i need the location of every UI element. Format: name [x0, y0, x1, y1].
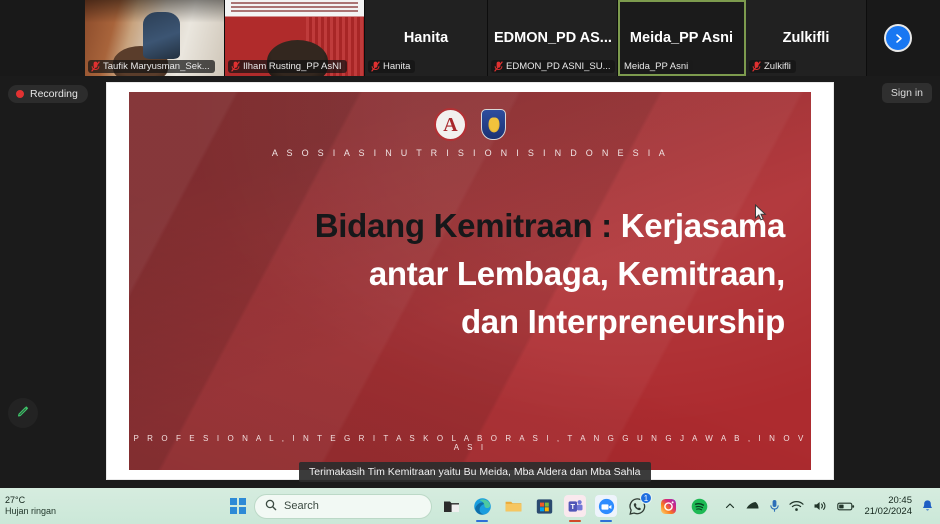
- participant-name-badge: Zulkifli: [749, 60, 796, 73]
- mic-muted-icon: [494, 61, 503, 72]
- mouse-cursor-icon: [754, 204, 767, 227]
- svg-text:T: T: [570, 502, 575, 511]
- chevron-up-icon[interactable]: [724, 500, 736, 512]
- participant-tile-hanita[interactable]: Hanita Hanita: [365, 0, 488, 76]
- windows-taskbar: 27°C Hujan ringan Search: [0, 488, 940, 524]
- annotate-button[interactable]: [8, 398, 38, 428]
- wifi-icon[interactable]: [789, 500, 804, 512]
- spotify-icon[interactable]: [688, 495, 710, 517]
- slide-title: Bidang Kemitraan : Kerjasama antar Lemba…: [157, 202, 785, 346]
- participant-name-text: Ilham Rusting_PP AsNI: [243, 61, 342, 72]
- next-participants-button[interactable]: [867, 0, 929, 76]
- speaker-icon[interactable]: [813, 500, 828, 512]
- search-icon: [265, 499, 277, 514]
- participant-name-badge: Meida_PP Asni: [621, 60, 693, 73]
- taskbar-center-group: Search: [230, 494, 710, 519]
- weather-description: Hujan ringan: [5, 506, 110, 517]
- whatsapp-badge: 1: [640, 492, 652, 504]
- search-placeholder-text: Search: [284, 500, 319, 512]
- pencil-icon: [16, 403, 31, 423]
- participant-name-badge: Ilham Rusting_PP AsNI: [228, 60, 347, 73]
- government-shield-logo: [481, 109, 506, 140]
- microphone-icon[interactable]: [769, 499, 780, 513]
- participant-name-text: EDMON_PD ASNI_SU...: [506, 61, 611, 72]
- participant-name-badge: EDMON_PD ASNI_SU...: [491, 60, 615, 73]
- slide-footer-values: P R O F E S I O N A L , I N T E G R I T …: [129, 434, 811, 452]
- pen-ink-icon[interactable]: [745, 500, 760, 512]
- windows-start-icon[interactable]: [230, 498, 246, 514]
- presentation-stage: Recording Sign in A A S O S I A S I N U …: [0, 76, 940, 488]
- slide-logo-row: A: [129, 108, 811, 141]
- taskbar-app-icons: T 1: [440, 495, 710, 517]
- participant-name-badge: Taufik Maryusman_Sek...: [88, 60, 215, 73]
- recording-label: Recording: [30, 88, 78, 100]
- chevron-right-icon: [884, 24, 912, 52]
- filmstrip-left-pad: [0, 0, 85, 76]
- participant-tile-ilham[interactable]: Ilham Rusting_PP AsNI: [225, 0, 365, 76]
- participant-name-text: Zulkifli: [764, 61, 791, 72]
- slide-title-line3: dan Interpreneurship: [461, 303, 785, 340]
- microsoft-teams-icon[interactable]: T: [564, 495, 586, 517]
- microsoft-store-icon[interactable]: [533, 495, 555, 517]
- slide-title-line1-dark: Bidang Kemitraan :: [315, 207, 612, 244]
- live-caption: Terimakasih Tim Kemitraan yaitu Bu Meida…: [299, 462, 651, 482]
- microsoft-edge-icon[interactable]: [471, 495, 493, 517]
- participant-tile-zulkifli[interactable]: Zulkifli Zulkifli: [746, 0, 867, 76]
- recording-indicator: Recording: [8, 85, 88, 103]
- participant-tile-edmon[interactable]: EDMON_PD AS... EDMON_PD ASNI_SU...: [488, 0, 618, 76]
- mic-muted-icon: [231, 61, 240, 72]
- clock-date: 21/02/2024: [864, 506, 912, 517]
- file-explorer-icon[interactable]: [440, 495, 462, 517]
- filmstrip-right-pad: [929, 0, 940, 76]
- slide-title-line2: antar Lembaga, Kemitraan,: [369, 255, 785, 292]
- mic-muted-icon: [752, 61, 761, 72]
- whatsapp-icon[interactable]: 1: [626, 495, 648, 517]
- participant-tile-meida[interactable]: Meida_PP Asni Meida_PP Asni: [618, 0, 746, 76]
- participant-display-name: Zulkifli: [746, 30, 866, 46]
- taskbar-clock[interactable]: 20:45 21/02/2024: [864, 495, 912, 517]
- bell-icon[interactable]: [921, 499, 934, 513]
- screen: Taufik Maryusman_Sek... Ilham Rusting_PP…: [0, 0, 940, 524]
- asni-circle-logo: A: [434, 108, 467, 141]
- weather-widget[interactable]: 27°C Hujan ringan: [0, 495, 110, 517]
- slide: A A S O S I A S I N U T R I S I O N I S …: [129, 92, 811, 470]
- file-explorer-folder-icon[interactable]: [502, 495, 524, 517]
- weather-temperature: 27°C: [5, 495, 110, 506]
- participant-display-name: EDMON_PD AS...: [488, 30, 617, 46]
- participant-display-name: Hanita: [365, 30, 487, 46]
- mic-muted-icon: [371, 61, 380, 72]
- battery-icon[interactable]: [837, 501, 855, 512]
- zoom-icon[interactable]: [595, 495, 617, 517]
- participant-name-text: Hanita: [383, 61, 410, 72]
- participant-name-text: Meida_PP Asni: [624, 61, 688, 72]
- participant-display-name: Meida_PP Asni: [618, 30, 745, 46]
- sign-in-button[interactable]: Sign in: [882, 83, 932, 103]
- clock-time: 20:45: [864, 495, 912, 506]
- participant-filmstrip: Taufik Maryusman_Sek... Ilham Rusting_PP…: [0, 0, 940, 76]
- slide-organization-name: A S O S I A S I N U T R I S I O N I S I …: [129, 148, 811, 158]
- participant-tile-taufik[interactable]: Taufik Maryusman_Sek...: [85, 0, 225, 76]
- mic-muted-icon: [91, 61, 100, 72]
- shared-screen-page: A A S O S I A S I N U T R I S I O N I S …: [107, 83, 833, 479]
- participant-name-text: Taufik Maryusman_Sek...: [103, 61, 210, 72]
- system-tray: 20:45 21/02/2024: [724, 495, 934, 517]
- recording-dot-icon: [16, 90, 24, 98]
- instagram-icon[interactable]: [657, 495, 679, 517]
- search-input[interactable]: Search: [254, 494, 432, 519]
- participant-name-badge: Hanita: [368, 60, 415, 73]
